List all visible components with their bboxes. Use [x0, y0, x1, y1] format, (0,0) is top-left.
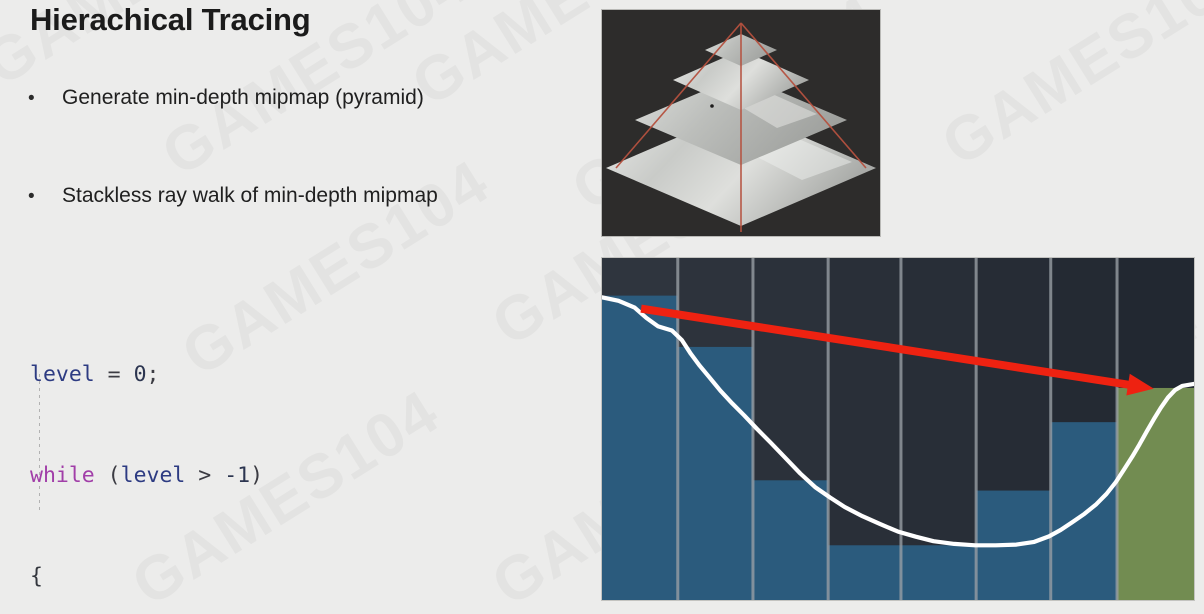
page-title: Hierachical Tracing: [30, 2, 311, 38]
code-token-keyword: while: [30, 463, 95, 488]
hiz-chart-svg: [602, 258, 1194, 600]
code-token-brace: {: [30, 564, 43, 589]
min-depth-bar: [753, 480, 828, 600]
code-token-number: -1: [224, 463, 250, 488]
code-block: level = 0; while (level > -1) { stepCurr…: [30, 290, 431, 614]
code-line-1: level = 0;: [30, 358, 431, 392]
code-token-punct: (: [95, 463, 121, 488]
code-token-punct: ): [250, 463, 263, 488]
bullet-item-0: • Generate min-depth mipmap (pyramid): [28, 85, 424, 111]
bullet-text: Stackless ray walk of min-depth mipmap: [62, 183, 438, 209]
mipmap-pyramid-figure: [601, 9, 881, 237]
min-depth-bar: [602, 296, 678, 600]
code-token-punct: ;: [147, 362, 160, 387]
code-token-variable: level: [30, 362, 95, 387]
hiz-traversal-figure: [601, 257, 1195, 601]
bullet-item-1: • Stackless ray walk of min-depth mipmap: [28, 183, 438, 209]
watermark: GAMES104: [930, 0, 1204, 180]
code-line-2: while (level > -1): [30, 459, 431, 493]
pyramid-svg: [602, 10, 880, 236]
slide-canvas: GAMES104 GAMES104 GAMES104 GAMES104 GAME…: [0, 0, 1204, 614]
code-token-operator: =: [95, 362, 134, 387]
min-depth-bar: [1051, 422, 1117, 600]
min-depth-bar: [901, 545, 976, 600]
bullet-text: Generate min-depth mipmap (pyramid): [62, 85, 424, 111]
code-token-operator: >: [185, 463, 224, 488]
code-line-3: {: [30, 560, 431, 594]
bullet-marker-icon: •: [28, 183, 44, 206]
min-depth-bar: [828, 545, 901, 600]
bullet-marker-icon: •: [28, 85, 44, 108]
code-token-number: 0: [134, 362, 147, 387]
code-token-variable: level: [121, 463, 186, 488]
sample-point-marker: [710, 104, 714, 108]
